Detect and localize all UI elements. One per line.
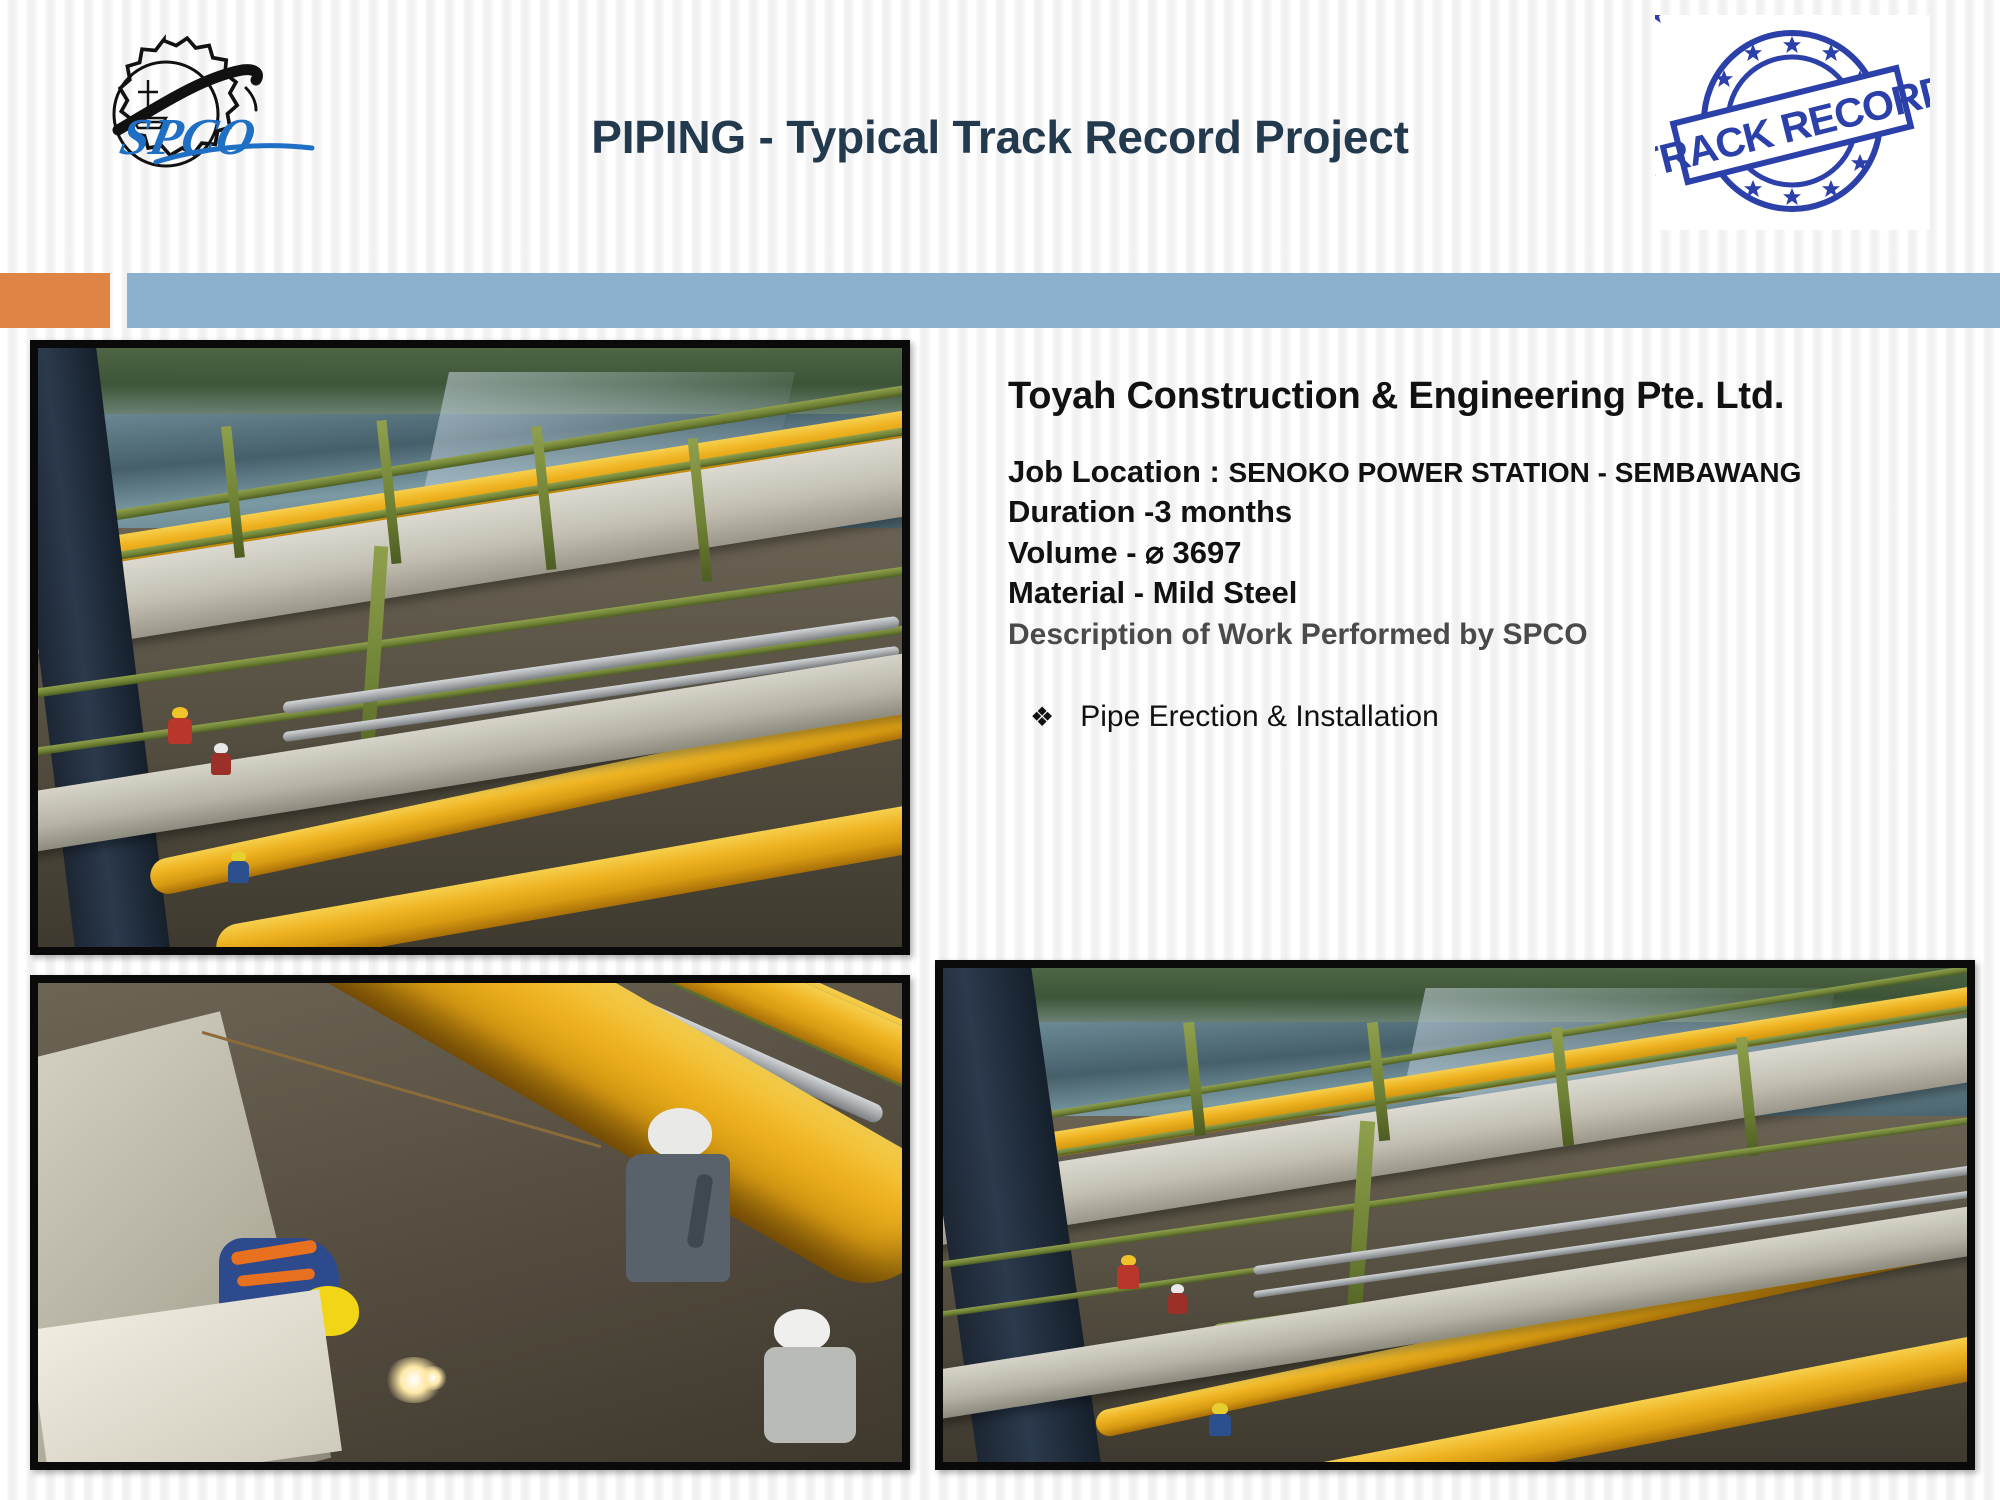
photo-piping-overview-top bbox=[30, 340, 910, 955]
photo-piping-overview-bottom bbox=[935, 960, 1975, 1470]
photo-image bbox=[943, 968, 1967, 1462]
photo-image bbox=[38, 348, 902, 947]
svg-text:SPCO: SPCO bbox=[115, 109, 260, 166]
list-item-label: Pipe Erection & Installation bbox=[1080, 700, 1439, 734]
page-title: PIPING - Typical Track Record Project bbox=[400, 110, 1600, 164]
job-location-line: Job Location : SENOKO POWER STATION - SE… bbox=[1008, 452, 1968, 492]
material-line: Material - Mild Steel bbox=[1008, 573, 1968, 613]
accent-bar-orange bbox=[0, 273, 110, 328]
project-info-block: Toyah Construction & Engineering Pte. Lt… bbox=[1008, 375, 1968, 734]
spco-gear-ship-logo: SPCO bbox=[60, 22, 350, 197]
duration-line: Duration -3 months bbox=[1008, 492, 1968, 532]
track-record-stamp-icon: TRACK RECORD bbox=[1655, 15, 1930, 230]
volume-line: Volume - ⌀ 3697 bbox=[1008, 533, 1968, 573]
job-location-value: SENOKO POWER STATION - SEMBAWANG bbox=[1228, 457, 1801, 488]
description-line: Description of Work Performed by SPCO bbox=[1008, 615, 1968, 654]
slide-header: SPCO PIPING - Typical Track Record Proje… bbox=[0, 0, 2000, 255]
job-location-label: Job Location : bbox=[1008, 454, 1228, 489]
list-item: ❖ Pipe Erection & Installation bbox=[1008, 700, 1968, 734]
company-name: Toyah Construction & Engineering Pte. Lt… bbox=[1008, 375, 1968, 418]
accent-bar-blue bbox=[127, 273, 2000, 328]
photo-welders-closeup bbox=[30, 975, 910, 1470]
work-scope-list: ❖ Pipe Erection & Installation bbox=[1008, 700, 1968, 734]
photo-image bbox=[38, 983, 902, 1462]
slide-canvas: SPCO PIPING - Typical Track Record Proje… bbox=[0, 0, 2000, 1500]
diamond-bullet-icon: ❖ bbox=[1030, 704, 1054, 731]
